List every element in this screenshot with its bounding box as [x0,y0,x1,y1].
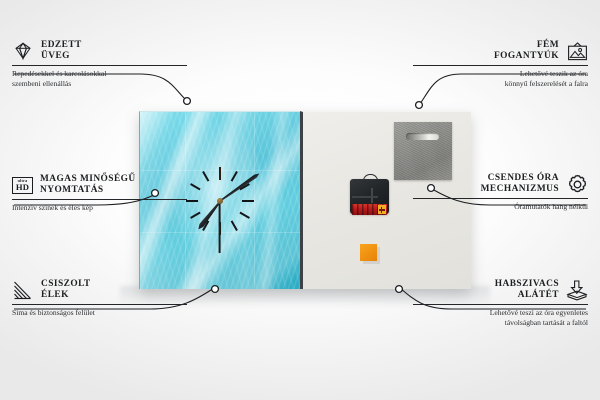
callout-silent-mechanism: CSENDES ÓRA MECHANIZMUS Óramutatók hang … [413,173,588,212]
callout-title-line1: FÉM [537,40,559,50]
callout-divider [12,65,187,66]
callout-title: HABSZIVACS ALÁTÉT [495,279,559,302]
foam-pad [360,244,377,261]
callout-header: EDZETT ÜVEG [12,40,187,64]
clock-center-cap [217,198,223,204]
leader-dot-glass [184,98,191,105]
callout-description: Intenzív színek és éles kép [12,203,187,212]
callout-title: CSISZOLT ÉLEK [41,279,91,302]
callout-title-line2: ALÁTÉT [518,290,559,300]
callout-polished-edges: CSISZOLT ÉLEK Sima és biztonságos felüle… [12,279,187,318]
gear-icon [566,174,588,194]
callout-title-line2: ÉLEK [41,290,69,300]
infographic-canvas: EDZETT ÜVEG Repedésekkel és karcolásokka… [0,0,600,400]
callout-desc-line1: Intenzív színek és éles kép [12,203,93,212]
callout-desc-line1: Óramutatók hang nélkül [514,202,588,211]
callout-title-line1: EDZETT [41,40,82,50]
callout-title-line2: NYOMTATÁS [40,185,104,195]
callout-description: Repedésekkel és karcolásokkal szembeni e… [12,69,187,88]
hanger-plate [394,122,452,180]
callout-desc-line1: Repedésekkel és karcolásokkal [12,69,106,78]
ultra-hd-icon: ultra HD [12,177,33,194]
callout-description: Sima és biztonságos felület [12,308,187,317]
leader-dot-handles [416,102,423,109]
mechanism-seam-horizontal [352,196,378,198]
callout-title-line1: MAGAS MINŐSÉGŰ [40,174,136,184]
ultra-hd-icon-big-label: HD [16,183,29,192]
callout-header: HABSZIVACS ALÁTÉT [413,279,588,303]
polished-edge-icon [12,280,34,300]
diamond-icon [12,41,34,61]
callout-title-line2: ÜVEG [41,51,70,61]
callout-desc-line2: szembeni ellenállás [12,79,71,88]
callout-title: FÉM FOGANTYÚK [494,40,559,63]
foam-press-icon [566,280,588,300]
callout-title: CSENDES ÓRA MECHANIZMUS [481,173,559,196]
callout-title-line1: CSENDES ÓRA [488,173,559,183]
callout-tempered-glass: EDZETT ÜVEG Repedésekkel és karcolásokka… [12,40,187,88]
callout-title-line2: MECHANIZMUS [481,184,559,194]
callout-divider [12,199,187,200]
callout-foam-pad: HABSZIVACS ALÁTÉT Lehetővé teszi az óra … [413,279,588,327]
callout-title-line1: HABSZIVACS [495,279,559,289]
mechanism-body [350,179,389,214]
callout-divider [12,304,187,305]
callout-divider [413,65,588,66]
hanger-slot [406,133,439,140]
callout-description: Lehetővé teszi az óra egyenletes távolsá… [413,308,588,327]
callout-title-line1: CSISZOLT [41,279,91,289]
picture-frame-icon [566,41,588,61]
callout-desc-line2: könnyű felszerelését a falra [505,79,588,88]
battery-plus-terminal [378,205,386,214]
callout-description: Lehetővé teszik az óra könnyű felszerelé… [413,69,588,88]
callout-desc-line2: távolságban tartását a faltól [505,318,588,327]
callout-title-line2: FOGANTYÚK [494,51,559,61]
callout-header: FÉM FOGANTYÚK [413,40,588,64]
callout-metal-handles: FÉM FOGANTYÚK Lehetővé teszik az óra kön… [413,40,588,88]
callout-high-quality-print: ultra HD MAGAS MINŐSÉGŰ NYOMTATÁS Intenz… [12,174,187,213]
clock-second-hand [219,201,221,253]
callout-desc-line1: Lehetővé teszi az óra egyenletes [490,308,588,317]
callout-title: MAGAS MINŐSÉGŰ NYOMTATÁS [40,174,136,197]
clock-mechanism [350,174,389,214]
battery [352,204,387,215]
callout-header: CSENDES ÓRA MECHANIZMUS [413,173,588,197]
callout-header: CSISZOLT ÉLEK [12,279,187,303]
callout-description: Óramutatók hang nélkül [413,202,588,211]
callout-divider [413,198,588,199]
callout-desc-line1: Lehetővé teszik az óra [520,69,588,78]
callout-title: EDZETT ÜVEG [41,40,82,63]
callout-desc-line1: Sima és biztonságos felület [12,308,95,317]
callout-header: ultra HD MAGAS MINŐSÉGŰ NYOMTATÁS [12,174,187,198]
callout-divider [413,304,588,305]
